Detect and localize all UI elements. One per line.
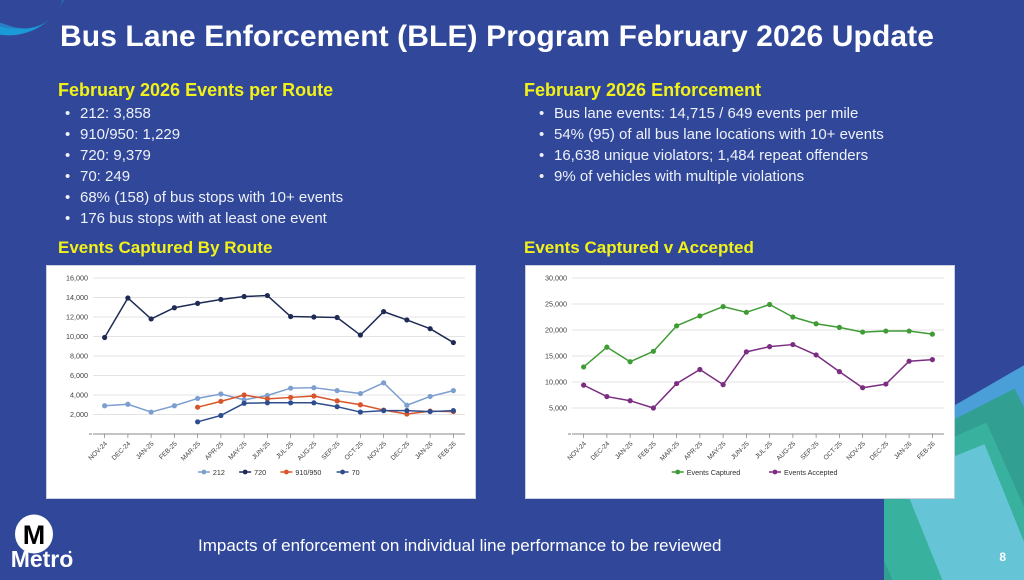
svg-text:SEP-25: SEP-25 [321,440,342,461]
svg-text:MAY-25: MAY-25 [707,440,728,461]
right-summary-heading: February 2026 Enforcement [524,80,984,101]
svg-text:DEC-24: DEC-24 [590,440,612,462]
svg-text:APR-25: APR-25 [683,440,705,462]
svg-text:Events Captured: Events Captured [687,468,741,477]
svg-text:JUN-25: JUN-25 [251,440,272,461]
svg-text:MAR-25: MAR-25 [180,440,202,462]
svg-text:FEB-26: FEB-26 [916,440,937,461]
svg-text:MAY-25: MAY-25 [228,440,249,461]
svg-text:12,000: 12,000 [66,313,88,322]
svg-text:Events Accepted: Events Accepted [784,468,838,477]
svg-text:8,000: 8,000 [70,352,88,361]
list-item: 9% of vehicles with multiple violations [524,166,984,187]
list-item: 68% (158) of bus stops with 10+ events [58,187,488,208]
svg-text:212: 212 [213,468,225,477]
svg-text:MAR-25: MAR-25 [659,440,681,462]
svg-text:JUL-25: JUL-25 [754,440,774,460]
svg-text:NOV-25: NOV-25 [845,440,867,462]
footer-caption: Impacts of enforcement on individual lin… [198,536,722,556]
svg-text:2,000: 2,000 [70,410,88,419]
svg-text:6,000: 6,000 [70,371,88,380]
slide-canvas: Bus Lane Enforcement (BLE) Program Febru… [0,0,1024,580]
left-summary-list: 212: 3,858 910/950: 1,229 720: 9,379 70:… [58,103,488,229]
svg-text:720: 720 [254,468,266,477]
list-item: 70: 249 [58,166,488,187]
svg-text:5,000: 5,000 [549,404,567,413]
svg-text:910/950: 910/950 [295,468,321,477]
svg-text:DEC-24: DEC-24 [111,440,133,462]
svg-text:DEC-25: DEC-25 [390,440,412,462]
svg-text:25,000: 25,000 [545,300,567,309]
svg-text:20,000: 20,000 [545,326,567,335]
svg-text:70: 70 [352,468,360,477]
page-number: 8 [999,550,1006,564]
svg-text:14,000: 14,000 [66,293,88,302]
svg-text:JUL-25: JUL-25 [275,440,295,460]
list-item: 720: 9,379 [58,145,488,166]
svg-text:FEB-25: FEB-25 [158,440,179,461]
svg-text:10,000: 10,000 [66,332,88,341]
svg-text:16,000: 16,000 [66,274,88,283]
svg-text:SEP-25: SEP-25 [800,440,821,461]
right-summary-block: February 2026 Enforcement Bus lane event… [524,80,984,187]
metro-logo: M Metro [8,514,118,572]
svg-text:JAN-25: JAN-25 [135,440,156,461]
svg-text:AUG-25: AUG-25 [775,440,797,462]
left-summary-heading: February 2026 Events per Route [58,80,488,101]
list-item: 212: 3,858 [58,103,488,124]
svg-text:JAN-26: JAN-26 [893,440,914,461]
svg-text:4,000: 4,000 [70,391,88,400]
svg-text:Metro: Metro [11,546,74,572]
list-item: 176 bus stops with at least one event [58,208,488,229]
svg-text:OCT-25: OCT-25 [823,440,845,462]
svg-text:FEB-25: FEB-25 [637,440,658,461]
events-captured-v-accepted-chart: 5,00010,00015,00020,00025,00030,000NOV-2… [525,265,955,499]
left-chart-heading: Events Captured By Route [58,238,272,258]
svg-text:NOV-24: NOV-24 [566,440,588,462]
left-summary-block: February 2026 Events per Route 212: 3,85… [58,80,488,229]
svg-text:JAN-26: JAN-26 [414,440,435,461]
svg-text:NOV-24: NOV-24 [87,440,109,462]
svg-text:JUN-25: JUN-25 [730,440,751,461]
svg-text:JAN-25: JAN-25 [614,440,635,461]
svg-text:AUG-25: AUG-25 [296,440,318,462]
list-item: 54% (95) of all bus lane locations with … [524,124,984,145]
svg-text:DEC-25: DEC-25 [869,440,891,462]
svg-text:30,000: 30,000 [545,274,567,283]
svg-text:NOV-25: NOV-25 [366,440,388,462]
svg-text:15,000: 15,000 [545,352,567,361]
page-title: Bus Lane Enforcement (BLE) Program Febru… [60,20,970,54]
right-chart-heading: Events Captured v Accepted [524,238,754,258]
svg-text:10,000: 10,000 [545,378,567,387]
right-summary-list: Bus lane events: 14,715 / 649 events per… [524,103,984,187]
list-item: 910/950: 1,229 [58,124,488,145]
events-captured-by-route-chart: 2,0004,0006,0008,00010,00012,00014,00016… [46,265,476,499]
svg-text:OCT-25: OCT-25 [344,440,366,462]
list-item: Bus lane events: 14,715 / 649 events per… [524,103,984,124]
svg-text:APR-25: APR-25 [204,440,226,462]
list-item: 16,638 unique violators; 1,484 repeat of… [524,145,984,166]
svg-text:FEB-26: FEB-26 [437,440,458,461]
